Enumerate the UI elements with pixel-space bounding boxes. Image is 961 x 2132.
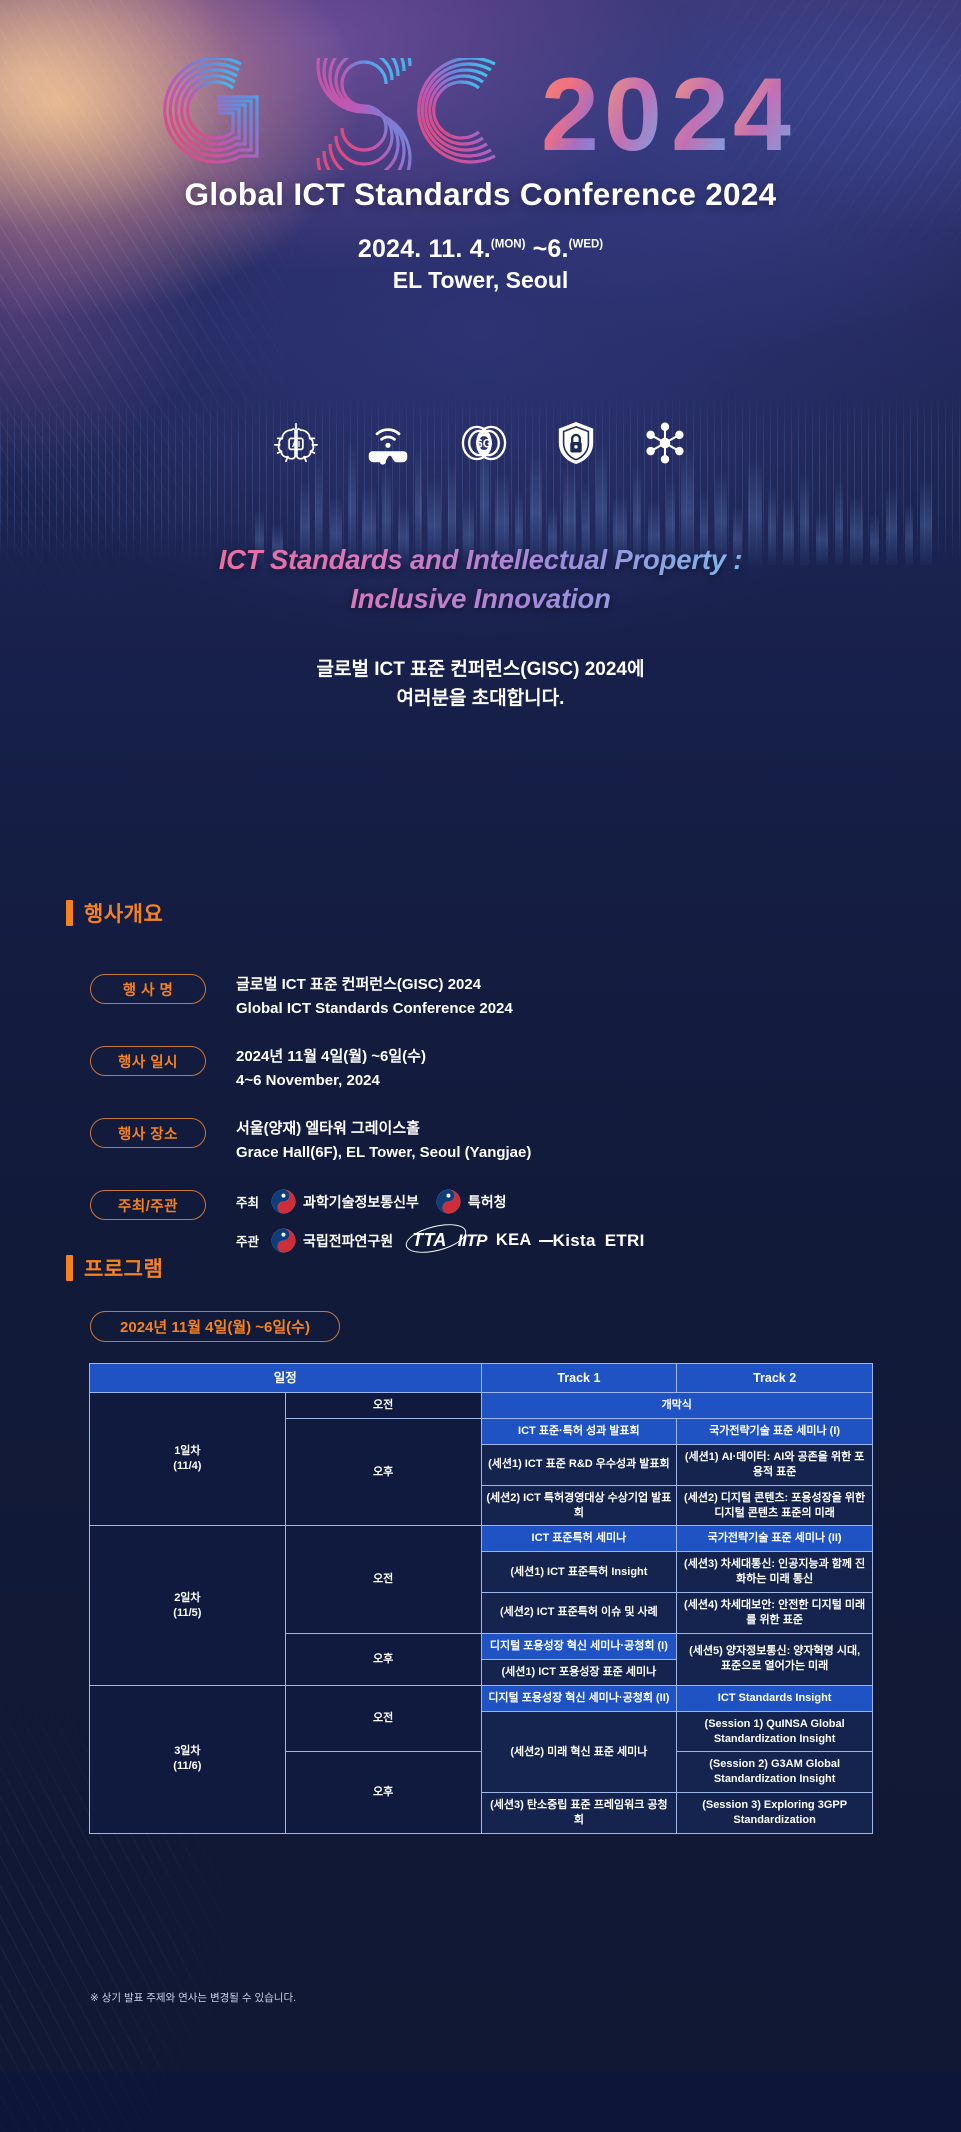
day2-pm-t1-head: 디지털 포용성장 혁신 세미나·공청회 (I)	[481, 1633, 677, 1659]
table-row: 3일차 (11/6) 오전 디지털 포용성장 혁신 세미나·공청회 (II) I…	[90, 1685, 873, 1711]
day1-am: 오전	[285, 1393, 481, 1419]
program-disclaimer-note: ※ 상기 발표 주제와 연사는 변경될 수 있습니다.	[90, 1990, 296, 2005]
invitation-line-1: 글로벌 ICT 표준 컨퍼런스(GISC) 2024에	[0, 655, 961, 684]
invitation-line-2: 여러분을 초대합니다.	[0, 684, 961, 713]
day3-pm-t2-ses2: (Session 2) G3AM Global Standardization …	[677, 1752, 873, 1793]
day2-pm: 오후	[285, 1633, 481, 1685]
svg-text:AI: AI	[291, 440, 299, 449]
host-msit-name: 과학기술정보통신부	[303, 1192, 419, 1212]
logo-kista: Kista	[541, 1231, 596, 1251]
logo-tta: TTA	[410, 1230, 449, 1251]
day1-pm-t2-s2: (세션2) 디지털 콘텐츠: 포용성장을 위한 디지털 콘텐츠 표준의 미래	[677, 1485, 873, 1526]
host-kipo: 특허청	[436, 1189, 507, 1214]
event-date-en: 4~6 November, 2024	[236, 1069, 426, 1093]
day2-am-t2-s4: (세션4) 차세대보안: 안전한 디지털 미래를 위한 표준	[677, 1593, 873, 1634]
admin-rra-name: 국립전파연구원	[303, 1231, 393, 1251]
event-venue-ko: 서울(양재) 엘타워 그레이스홀	[236, 1117, 531, 1141]
day2-am-t1-s2: (세션2) ICT 표준특허 이슈 및 사례	[481, 1593, 677, 1634]
host-kipo-name: 특허청	[468, 1192, 507, 1212]
day2-line2: (11/5)	[173, 1607, 201, 1619]
invitation-message: 글로벌 ICT 표준 컨퍼런스(GISC) 2024에 여러분을 초대합니다.	[0, 655, 961, 714]
overview-value-venue: 서울(양재) 엘타워 그레이스홀 Grace Hall(6F), EL Towe…	[236, 1117, 531, 1165]
ai-brain-icon: AI	[274, 421, 318, 465]
logo-etri: ETRI	[605, 1231, 645, 1251]
svg-text:2: 2	[671, 58, 726, 170]
date-start-day: (MON)	[491, 239, 526, 251]
svg-text:2: 2	[541, 58, 596, 170]
technology-icon-row: AI 6G	[0, 420, 961, 466]
day1-pm-t1-s1: (세션1) ICT 표준 R&D 우수성과 발표회	[481, 1445, 677, 1486]
day3-am: 오전	[285, 1685, 481, 1752]
date-end: ~6.	[533, 235, 569, 263]
host-msit: 과학기술정보통신부	[271, 1189, 419, 1214]
day2-line1: 2일차	[174, 1592, 200, 1604]
day1-opening: 개막식	[481, 1393, 873, 1419]
conference-title: Global ICT Standards Conference 2024	[0, 176, 961, 213]
theme-line-2: Inclusive Innovation	[0, 579, 961, 618]
overview-section-heading: 행사개요	[66, 898, 163, 928]
overview-row-organizer: 주최/주관 주최 과학기술정보통신부	[90, 1189, 890, 1267]
admin-rra: 국립전파연구원	[271, 1228, 393, 1253]
overview-label-organizer: 주최/주관	[90, 1190, 206, 1220]
event-date-ko: 2024년 11월 4일(월) ~6일(수)	[236, 1045, 426, 1069]
day1-line2: (11/4)	[173, 1460, 201, 1472]
gisc-2024-logo: 2 0 2 4	[161, 58, 801, 170]
day1-pm-t1-head: ICT 표준·특허 성과 발표회	[481, 1419, 677, 1445]
day3-t1-s2: (세션2) 미래 혁신 표준 세미나	[481, 1711, 677, 1792]
day2-am-t2-head: 국가전략기술 표준 세미나 (II)	[677, 1526, 873, 1552]
day2-am-t2-s3: (세션3) 차세대통신: 인공지능과 함께 진화하는 미래 통신	[677, 1552, 873, 1593]
event-venue-en: Grace Hall(6F), EL Tower, Seoul (Yangjae…	[236, 1141, 531, 1165]
date-end-day: (WED)	[569, 239, 604, 251]
day2-am-t1-s1: (세션1) ICT 표준특허 Insight	[481, 1552, 677, 1593]
day2-am: 오전	[285, 1526, 481, 1633]
theme-line-1: ICT Standards and Intellectual Property …	[0, 540, 961, 579]
day2-label: 2일차 (11/5)	[90, 1526, 286, 1685]
korea-government-taeguk-icon	[271, 1228, 296, 1253]
host-line: 주최 과학기술정보통신부	[236, 1189, 645, 1214]
day3-line1: 3일차	[174, 1745, 200, 1757]
hero-venue: EL Tower, Seoul	[0, 267, 961, 294]
poster-page: 2 0 2 4 Global ICT Standards Conference …	[0, 0, 961, 2072]
host-tag: 주최	[236, 1192, 262, 1211]
conference-theme: ICT Standards and Intellectual Property …	[0, 540, 961, 618]
svg-text:4: 4	[733, 58, 791, 170]
day1-pm-t2-s1: (세션1) AI·데이터: AI와 공존을 위한 포용적 표준	[677, 1445, 873, 1486]
day1-line1: 1일차	[174, 1445, 200, 1457]
table-row: 2일차 (11/5) 오전 ICT 표준특허 세미나 국가전략기술 표준 세미나…	[90, 1526, 873, 1552]
admin-line: 주관 국립전파연구원 TTA IITP	[236, 1228, 645, 1253]
day3-am-t2-ses1: (Session 1) QuINSA Global Standardizatio…	[677, 1711, 873, 1752]
kista-dash-decoration	[539, 1240, 553, 1242]
event-name-en: Global ICT Standards Conference 2024	[236, 997, 513, 1021]
overview-label-venue: 행사 장소	[90, 1118, 206, 1148]
table-row: 1일차 (11/4) 오전 개막식	[90, 1393, 873, 1419]
shield-lock-icon	[555, 420, 597, 466]
tta-ring-decoration	[403, 1219, 469, 1258]
hero-section: 2 0 2 4 Global ICT Standards Conference …	[0, 0, 961, 294]
program-section-heading: 프로그램	[66, 1253, 163, 1283]
section-accent-bar	[66, 1255, 73, 1281]
day3-pm: 오후	[285, 1752, 481, 1833]
day3-am-t1-head: 디지털 포용성장 혁신 세미나·공청회 (II)	[481, 1685, 677, 1711]
organizer-logos-block: 주최 과학기술정보통신부	[236, 1189, 645, 1267]
day3-label: 3일차 (11/6)	[90, 1685, 286, 1833]
overview-value-date: 2024년 11월 4일(월) ~6일(수) 4~6 November, 202…	[236, 1045, 426, 1093]
header-track1: Track 1	[481, 1364, 677, 1393]
event-name-ko: 글로벌 ICT 표준 컨퍼런스(GISC) 2024	[236, 973, 513, 997]
day2-pm-t1-s1: (세션1) ICT 포용성장 표준 세미나	[481, 1659, 677, 1685]
day2-pm-t2-s5: (세션5) 양자정보통신: 양자혁명 시대, 표준으로 열어가는 미래	[677, 1633, 873, 1685]
section-accent-bar	[66, 900, 73, 926]
day3-pm-t2-ses3: (Session 3) Exploring 3GPP Standardizati…	[677, 1793, 873, 1834]
svg-text:6G: 6G	[476, 437, 492, 450]
overview-row-venue: 행사 장소 서울(양재) 엘타워 그레이스홀 Grace Hall(6F), E…	[90, 1117, 890, 1165]
program-heading-text: 프로그램	[84, 1253, 163, 1283]
overview-heading-text: 행사개요	[84, 898, 163, 928]
day1-pm-t2-head: 국가전략기술 표준 세미나 (I)	[677, 1419, 873, 1445]
day1-pm-t1-s2: (세션2) ICT 특허경영대상 수상기업 발표회	[481, 1485, 677, 1526]
6g-signal-icon: 6G	[458, 421, 510, 465]
korea-government-taeguk-icon	[436, 1189, 461, 1214]
table-header-row: 일정 Track 1 Track 2	[90, 1364, 873, 1393]
svg-text:0: 0	[604, 58, 659, 170]
molecule-icon	[642, 420, 688, 466]
korea-government-taeguk-icon	[271, 1189, 296, 1214]
event-date-line: 2024. 11. 4.(MON) ~6.(WED)	[0, 235, 961, 264]
logo-kista-text: Kista	[553, 1231, 596, 1250]
header-schedule: 일정	[90, 1364, 482, 1393]
day2-am-t1-head: ICT 표준특허 세미나	[481, 1526, 677, 1552]
admin-tag: 주관	[236, 1231, 262, 1250]
program-date-pill: 2024년 11월 4일(월) ~6일(수)	[90, 1311, 340, 1342]
logo-kea: KEA	[496, 1231, 532, 1250]
day3-line2: (11/6)	[173, 1760, 201, 1772]
day1-pm: 오후	[285, 1419, 481, 1526]
header-track2: Track 2	[677, 1364, 873, 1393]
overview-rows: 행 사 명 글로벌 ICT 표준 컨퍼런스(GISC) 2024 Global …	[90, 973, 890, 1291]
overview-label-date: 행사 일시	[90, 1046, 206, 1076]
overview-row-date: 행사 일시 2024년 11월 4일(월) ~6일(수) 4~6 Novembe…	[90, 1045, 890, 1093]
date-start: 2024. 11. 4.	[358, 235, 491, 263]
overview-label-name: 행 사 명	[90, 974, 206, 1004]
program-schedule-table: 일정 Track 1 Track 2 1일차 (11/4) 오전 개막식 오후 …	[89, 1363, 873, 1834]
day1-label: 1일차 (11/4)	[90, 1393, 286, 1526]
overview-value-name: 글로벌 ICT 표준 컨퍼런스(GISC) 2024 Global ICT St…	[236, 973, 513, 1021]
day3-am-t2-head: ICT Standards Insight	[677, 1685, 873, 1711]
overview-row-name: 행 사 명 글로벌 ICT 표준 컨퍼런스(GISC) 2024 Global …	[90, 973, 890, 1021]
day3-pm-t1-s3: (세션3) 탄소중립 표준 프레임워크 공청회	[481, 1793, 677, 1834]
vr-headset-wifi-icon	[363, 421, 413, 465]
